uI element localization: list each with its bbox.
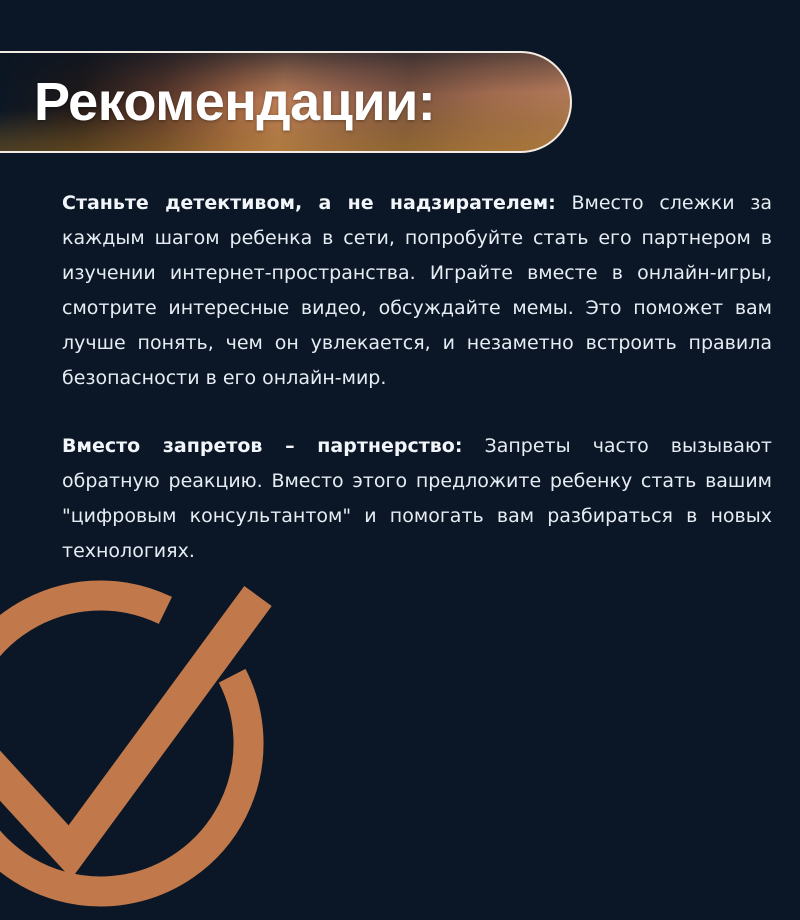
recommendation-paragraph: Вместо запретов – партнерство: Запреты ч… <box>62 429 772 569</box>
content-area: Станьте детективом, а не надзирателем: В… <box>62 186 772 569</box>
recommendation-lead: Вместо запретов – партнерство: <box>62 435 462 457</box>
page-title: Рекомендации: <box>34 71 435 133</box>
recommendation-paragraph: Станьте детективом, а не надзирателем: В… <box>62 186 772 396</box>
page-title-banner: Рекомендации: <box>0 51 572 153</box>
check-circle-icon <box>0 560 300 920</box>
recommendation-lead: Станьте детективом, а не надзирателем: <box>62 192 556 214</box>
recommendation-body: Вместо слежки за каждым шагом ребенка в … <box>62 192 772 389</box>
